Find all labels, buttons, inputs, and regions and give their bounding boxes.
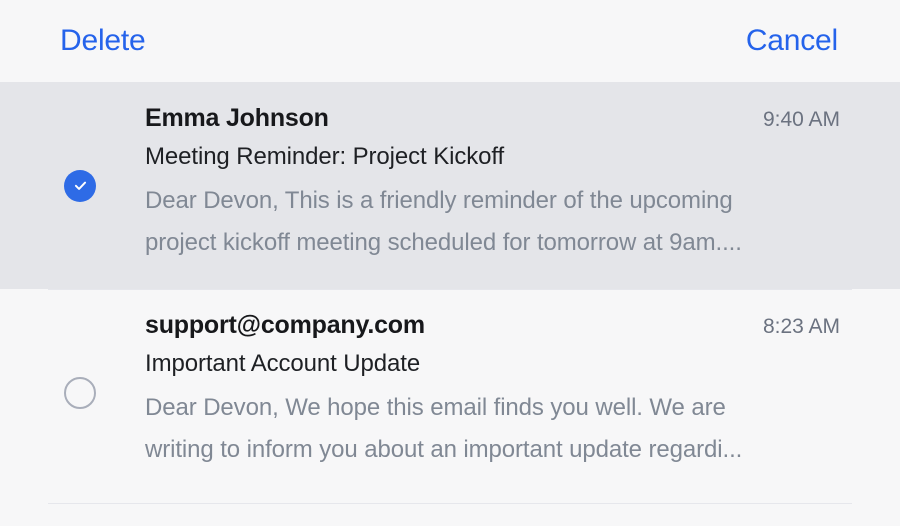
email-header-line: Emma Johnson 9:40 AM [145,104,840,132]
email-preview: Dear Devon, This is a friendly reminder … [145,180,800,265]
email-content: support@company.com 8:23 AM Important Ac… [112,311,848,472]
list-bottom-divider [48,503,852,504]
email-sender: Emma Johnson [145,104,329,132]
email-sender: support@company.com [145,311,425,339]
email-timestamp: 8:23 AM [763,315,840,339]
email-list: Emma Johnson 9:40 AM Meeting Reminder: P… [0,82,900,496]
toolbar: Delete Cancel [0,0,900,82]
email-subject: Important Account Update [145,350,840,378]
select-checkbox-cell[interactable] [48,375,112,409]
email-subject: Meeting Reminder: Project Kickoff [145,143,840,171]
email-list-item[interactable]: support@company.com 8:23 AM Important Ac… [0,289,900,496]
circle-outline-icon[interactable] [64,377,96,409]
email-list-item[interactable]: Emma Johnson 9:40 AM Meeting Reminder: P… [0,82,900,289]
cancel-button[interactable]: Cancel [744,22,840,60]
delete-button[interactable]: Delete [58,22,148,60]
email-selection-screen: Delete Cancel Emma Johnson 9:40 AM Meeti… [0,0,900,526]
email-preview: Dear Devon, We hope this email finds you… [145,387,800,472]
check-circle-filled-icon[interactable] [64,170,96,202]
email-timestamp: 9:40 AM [763,108,840,132]
email-header-line: support@company.com 8:23 AM [145,311,840,339]
select-checkbox-cell[interactable] [48,168,112,202]
email-content: Emma Johnson 9:40 AM Meeting Reminder: P… [112,104,848,265]
